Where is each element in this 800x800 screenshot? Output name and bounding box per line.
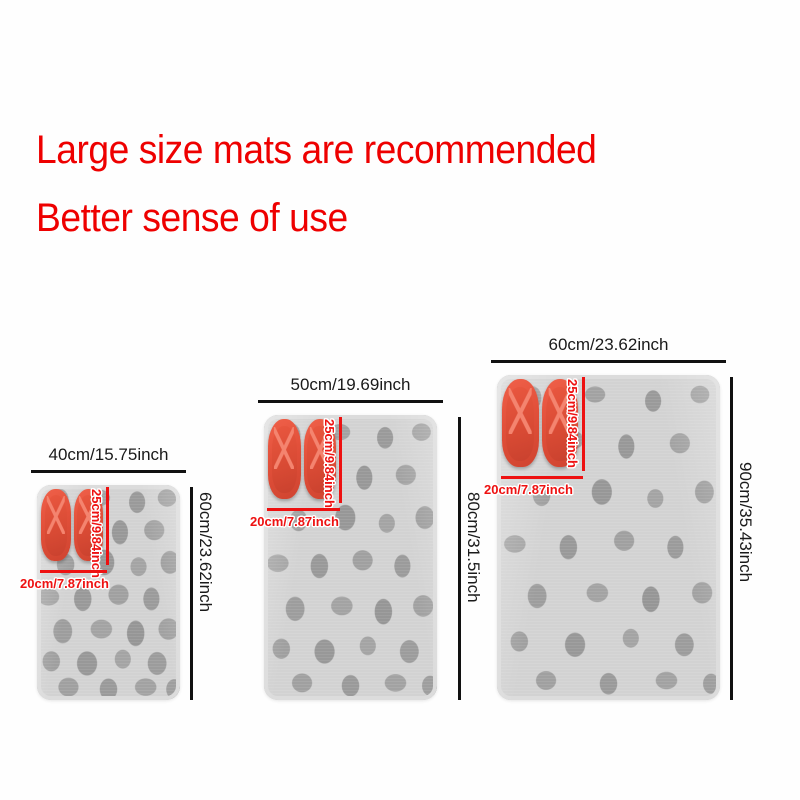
product-size-infographic: Large size mats are recommended Better s… — [0, 0, 800, 800]
medium-mat-height-line — [458, 417, 461, 700]
slipper-left-icon — [502, 379, 539, 467]
large-slipper-width-line — [501, 476, 583, 479]
small-mat-width-label: 40cm/15.75inch — [37, 445, 180, 465]
small-mat-width-line — [31, 470, 186, 473]
small-slipper-height-label: 25cm/9.84inch — [89, 489, 104, 578]
medium-slipper-width-line — [267, 508, 340, 511]
large-mat-height-label: 90cm/35.43inch — [735, 462, 755, 582]
large-mat-width-line — [491, 360, 726, 363]
headline-line-2: Better sense of use — [36, 198, 348, 238]
medium-slipper-width-label: 20cm/7.87inch — [250, 514, 339, 529]
large-slipper-height-line — [582, 377, 585, 471]
slipper-left-icon — [41, 489, 71, 561]
slipper-left-icon — [268, 419, 301, 499]
large-slipper-height-label: 25cm/9.84inch — [565, 379, 580, 468]
medium-slipper-height-label: 25cm/9.84inch — [322, 419, 337, 508]
small-mat-height-label: 60cm/23.62inch — [195, 492, 215, 612]
large-mat-height-line — [730, 377, 733, 700]
medium-mat-width-label: 50cm/19.69inch — [264, 375, 437, 395]
small-slipper-width-label: 20cm/7.87inch — [20, 576, 109, 591]
small-mat-height-line — [190, 487, 193, 700]
small-slipper-height-line — [106, 487, 109, 565]
medium-mat-height-label: 80cm/31.5inch — [463, 492, 483, 603]
large-mat-width-label: 60cm/23.62inch — [497, 335, 720, 355]
small-slipper-width-line — [40, 570, 107, 573]
large-slipper-width-label: 20cm/7.87inch — [484, 482, 573, 497]
medium-slipper-height-line — [339, 417, 342, 503]
headline-line-1: Large size mats are recommended — [36, 130, 596, 170]
medium-mat-width-line — [258, 400, 443, 403]
